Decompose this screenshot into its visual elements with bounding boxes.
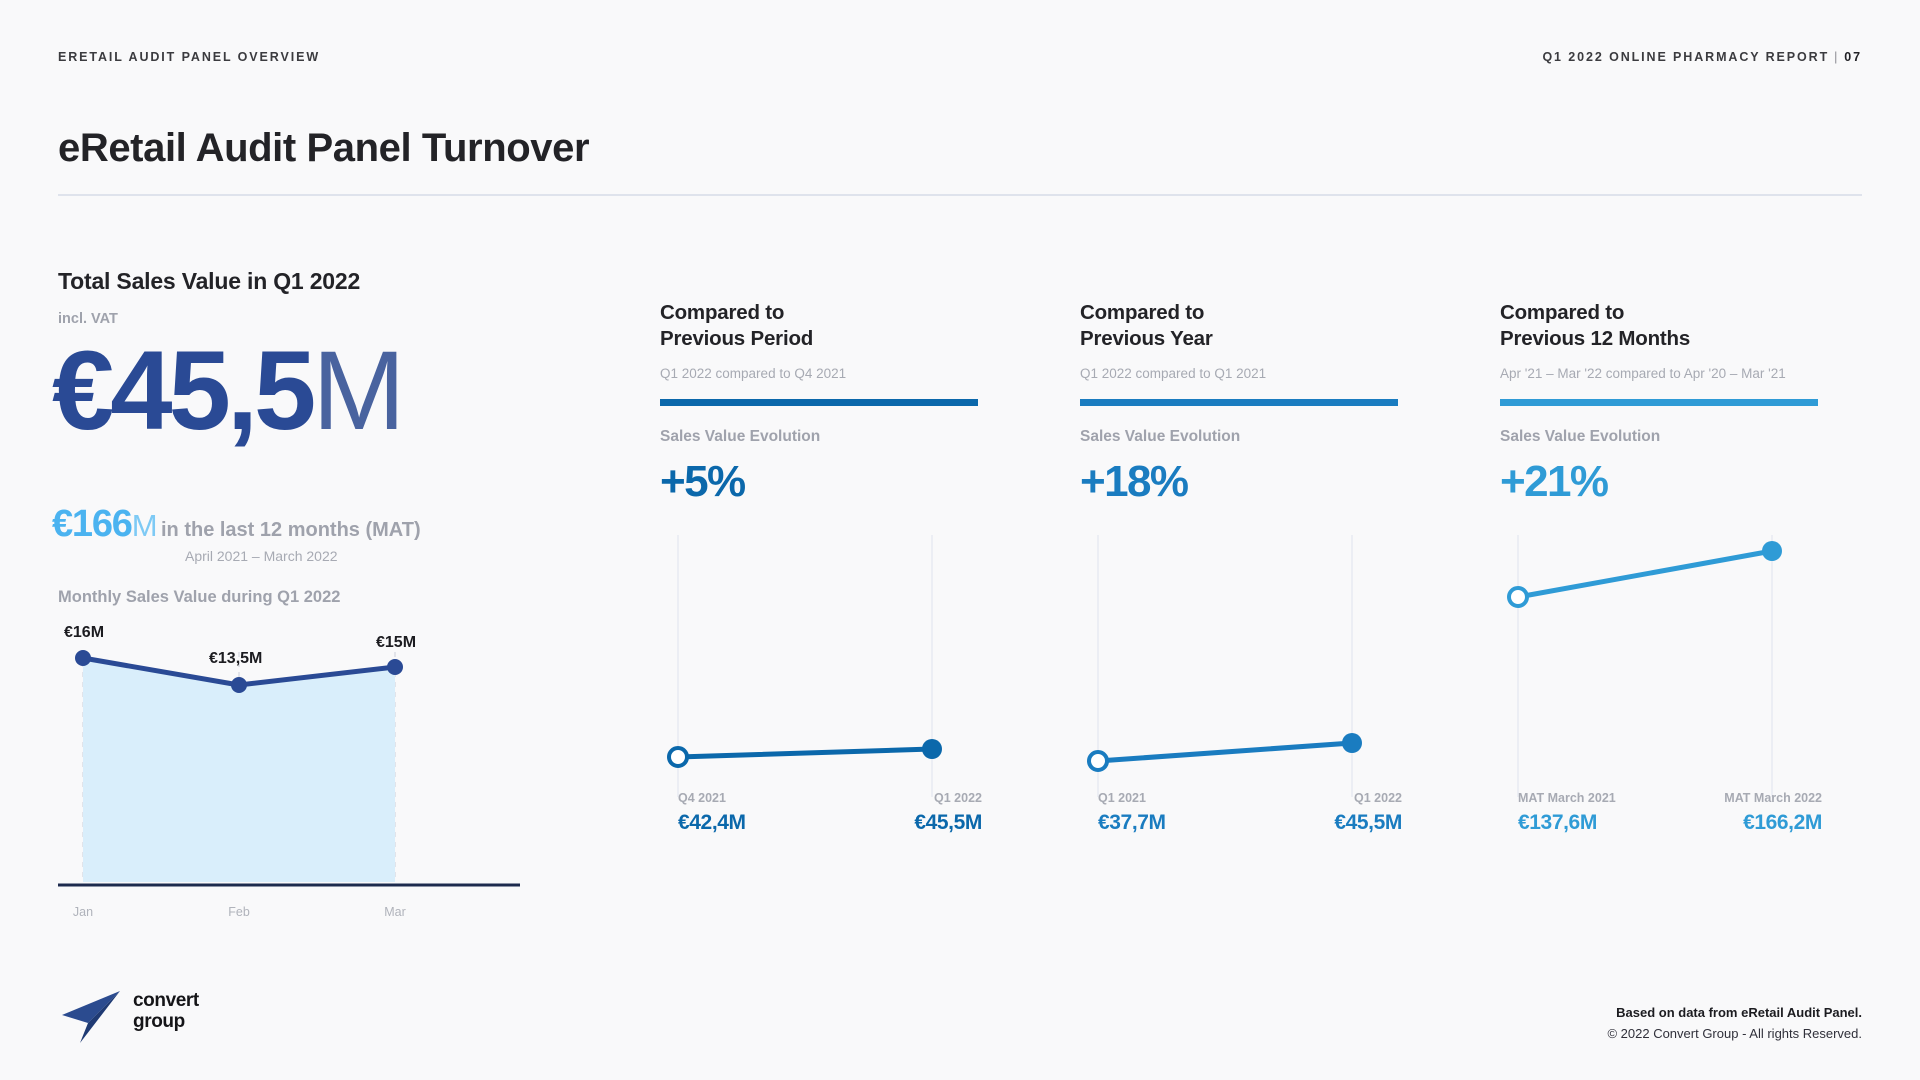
header-eyebrow-left: ERETAIL AUDIT PANEL OVERVIEW [58, 50, 320, 64]
data-label-mar: €15M [376, 634, 416, 652]
convert-group-logo: convert group [58, 985, 208, 1047]
trend-line [678, 749, 932, 757]
card-metric-label: Sales Value Evolution [1080, 428, 1410, 446]
paper-plane-icon [58, 989, 128, 1047]
trend-line [1518, 551, 1772, 597]
endpoint-name: MAT March 2022 [1657, 791, 1822, 805]
data-point-end [922, 739, 942, 759]
card-percent-value: +21% [1500, 458, 1830, 506]
card-percent-value: +18% [1080, 458, 1410, 506]
mat-value-line: €166Min the last 12 months (MAT) [52, 505, 421, 543]
monthly-chart-heading: Monthly Sales Value during Q1 2022 [58, 588, 340, 607]
comparison-card-previous-12-months: Compared to Previous 12 Months Apr '21 –… [1500, 300, 1830, 940]
card-mini-svg [1080, 535, 1410, 797]
total-sales-unit: M [312, 328, 403, 453]
card-mini-chart: Q4 2021 €42,4M Q1 2022 €45,5M [660, 535, 990, 835]
card-accent-rule [1500, 399, 1818, 406]
card-title: Compared to Previous Period [660, 300, 990, 352]
data-point-start [1089, 752, 1107, 770]
footer-credits: Based on data from eRetail Audit Panel. … [1607, 1005, 1862, 1041]
total-sales-value: €45,5M [52, 325, 404, 457]
page-title: eRetail Audit Panel Turnover [58, 126, 589, 171]
logo-line2: group [133, 1011, 199, 1032]
page-number: 07 [1844, 50, 1862, 64]
total-sales-heading: Total Sales Value in Q1 2022 [58, 268, 360, 295]
card-mini-svg [1500, 535, 1830, 797]
data-label-feb: €13,5M [209, 650, 262, 668]
footer-copyright: © 2022 Convert Group - All rights Reserv… [1607, 1026, 1862, 1041]
card-endpoint-end: MAT March 2022 €166,2M [1657, 791, 1822, 835]
logo-line1: convert [133, 990, 199, 1011]
card-title: Compared to Previous Year [1080, 300, 1410, 352]
header-separator: | [1834, 50, 1839, 64]
data-label-jan: €16M [64, 624, 104, 642]
mat-number: €166 [52, 503, 132, 545]
data-point-feb [231, 677, 247, 693]
endpoint-name: Q1 2022 [1237, 791, 1402, 805]
logo-wordmark: convert group [133, 990, 199, 1033]
card-mini-svg [660, 535, 990, 797]
x-label-mar: Mar [384, 905, 406, 919]
monthly-sales-svg [58, 630, 520, 892]
card-title-line2: Previous 12 Months [1500, 326, 1830, 352]
card-title-line1: Compared to [1500, 300, 1830, 326]
card-accent-rule [660, 399, 978, 406]
footer-data-note: Based on data from eRetail Audit Panel. [1607, 1005, 1862, 1020]
data-point-start [1509, 588, 1527, 606]
endpoint-value: €45,5M [817, 811, 982, 835]
comparison-card-previous-year: Compared to Previous Year Q1 2022 compar… [1080, 300, 1410, 940]
endpoint-name: Q1 2022 [817, 791, 982, 805]
card-mini-chart: MAT March 2021 €137,6M MAT March 2022 €1… [1500, 535, 1830, 835]
card-title-line2: Previous Period [660, 326, 990, 352]
card-percent-value: +5% [660, 458, 990, 506]
data-point-end [1342, 733, 1362, 753]
endpoint-value: €166,2M [1657, 811, 1822, 835]
card-endpoint-end: Q1 2022 €45,5M [817, 791, 982, 835]
trend-line [1098, 743, 1352, 761]
card-endpoint-end: Q1 2022 €45,5M [1237, 791, 1402, 835]
monthly-sales-chart: €16M €13,5M €15M Jan Feb Mar [58, 630, 520, 900]
data-point-jan [75, 650, 91, 666]
endpoint-value: €45,5M [1237, 811, 1402, 835]
data-point-start [669, 748, 687, 766]
card-metric-label: Sales Value Evolution [1500, 428, 1830, 446]
mat-unit: M [132, 508, 157, 543]
card-title-line1: Compared to [660, 300, 990, 326]
mat-caption: in the last 12 months (MAT) [161, 519, 421, 541]
total-sales-number: €45,5 [52, 328, 312, 453]
card-subtitle: Q1 2022 compared to Q4 2021 [660, 366, 990, 381]
header-eyebrow-right: Q1 2022 ONLINE PHARMACY REPORT|07 [1542, 50, 1862, 64]
title-divider [58, 194, 1862, 196]
mat-date-range: April 2021 – March 2022 [185, 548, 338, 564]
report-name: Q1 2022 ONLINE PHARMACY REPORT [1542, 50, 1829, 64]
card-title-line1: Compared to [1080, 300, 1410, 326]
card-metric-label: Sales Value Evolution [660, 428, 990, 446]
card-subtitle: Apr '21 – Mar '22 compared to Apr '20 – … [1500, 366, 1830, 381]
slide-root: ERETAIL AUDIT PANEL OVERVIEW Q1 2022 ONL… [0, 0, 1920, 1080]
card-title-line2: Previous Year [1080, 326, 1410, 352]
data-point-mar [387, 659, 403, 675]
card-subtitle: Q1 2022 compared to Q1 2021 [1080, 366, 1410, 381]
card-accent-rule [1080, 399, 1398, 406]
x-label-feb: Feb [228, 905, 250, 919]
comparison-card-previous-period: Compared to Previous Period Q1 2022 comp… [660, 300, 990, 940]
card-mini-chart: Q1 2021 €37,7M Q1 2022 €45,5M [1080, 535, 1410, 835]
x-label-jan: Jan [73, 905, 93, 919]
data-point-end [1762, 541, 1782, 561]
card-title: Compared to Previous 12 Months [1500, 300, 1830, 352]
